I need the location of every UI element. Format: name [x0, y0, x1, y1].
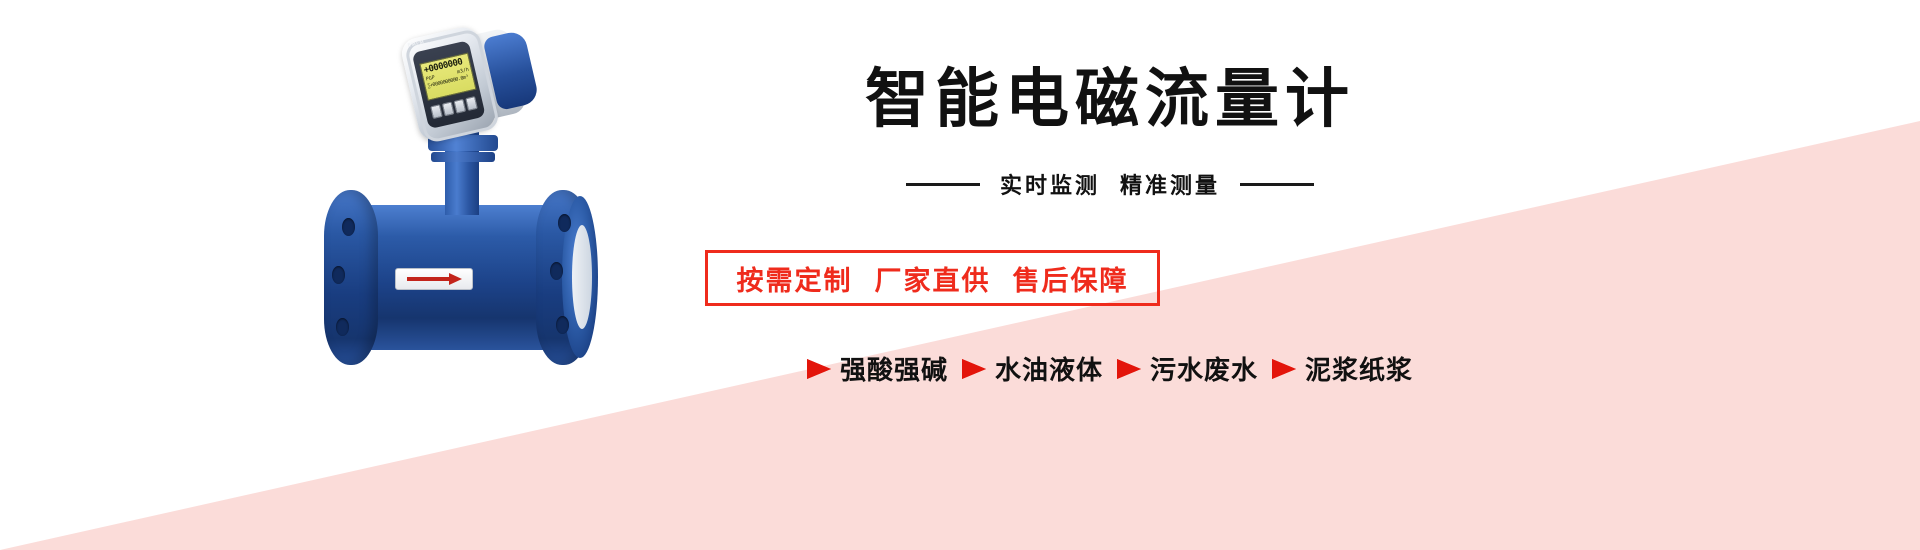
- converter-key-3[interactable]: [454, 99, 467, 114]
- flow-direction-arrow: [395, 268, 473, 290]
- triangle-right-icon: [1272, 359, 1296, 379]
- converter-keypad: [430, 96, 478, 119]
- flowmeter-flange-bore: [572, 225, 592, 329]
- converter-key-2[interactable]: [442, 101, 455, 116]
- converter-key-1[interactable]: [430, 104, 443, 119]
- flange-bolt: [342, 218, 355, 236]
- feature-item: 强酸强碱: [807, 350, 948, 387]
- triangle-right-icon: [1117, 359, 1141, 379]
- feature-item: 水油液体: [962, 350, 1103, 387]
- flange-bolt: [550, 262, 563, 280]
- flange-bolt: [558, 214, 571, 232]
- promo-item-3: 售后保障: [1013, 259, 1129, 298]
- subtitle-text-left: 实时监测: [1000, 168, 1100, 200]
- feature-item: 污水废水: [1117, 350, 1258, 387]
- triangle-right-icon: [962, 359, 986, 379]
- promo-item-1: 按需定制: [737, 259, 853, 298]
- flange-bolt: [332, 266, 345, 284]
- converter-lcd-display: +0000000 PGP m3/h ∑+0000000000.0m³: [419, 53, 476, 101]
- feature-label: 污水废水: [1150, 350, 1258, 387]
- promo-box: 按需定制 厂家直供 售后保障: [705, 250, 1160, 306]
- banner-copy-block: 智能电磁流量计 实时监测 精准测量 按需定制 厂家直供 售后保障 强酸强碱 水油…: [610, 0, 1610, 550]
- feature-label: 泥浆纸浆: [1305, 350, 1413, 387]
- feature-item: 泥浆纸浆: [1272, 350, 1413, 387]
- feature-list: 强酸强碱 水油液体 污水废水 泥浆纸浆: [610, 350, 1610, 387]
- subtitle-rule-right: [1240, 183, 1314, 186]
- flange-bolt: [556, 316, 569, 334]
- converter-key-4[interactable]: [465, 96, 478, 111]
- feature-label: 强酸强碱: [840, 350, 948, 387]
- triangle-right-icon: [807, 359, 831, 379]
- flange-bolt: [336, 318, 349, 336]
- feature-label: 水油液体: [995, 350, 1103, 387]
- banner-title: 智能电磁流量计: [610, 48, 1610, 140]
- banner-subtitle: 实时监测 精准测量: [610, 168, 1610, 200]
- product-banner: EMFM电磁流量计 +0000000 PGP m3/h ∑+0000000000…: [0, 0, 1920, 550]
- promo-item-2: 厂家直供: [875, 259, 991, 298]
- flowmeter-neck-flange-lower: [431, 152, 495, 162]
- subtitle-text-right: 精准测量: [1120, 168, 1220, 200]
- subtitle-rule-left: [906, 183, 980, 186]
- flowmeter-converter: EMFM电磁流量计 +0000000 PGP m3/h ∑+0000000000…: [399, 17, 531, 151]
